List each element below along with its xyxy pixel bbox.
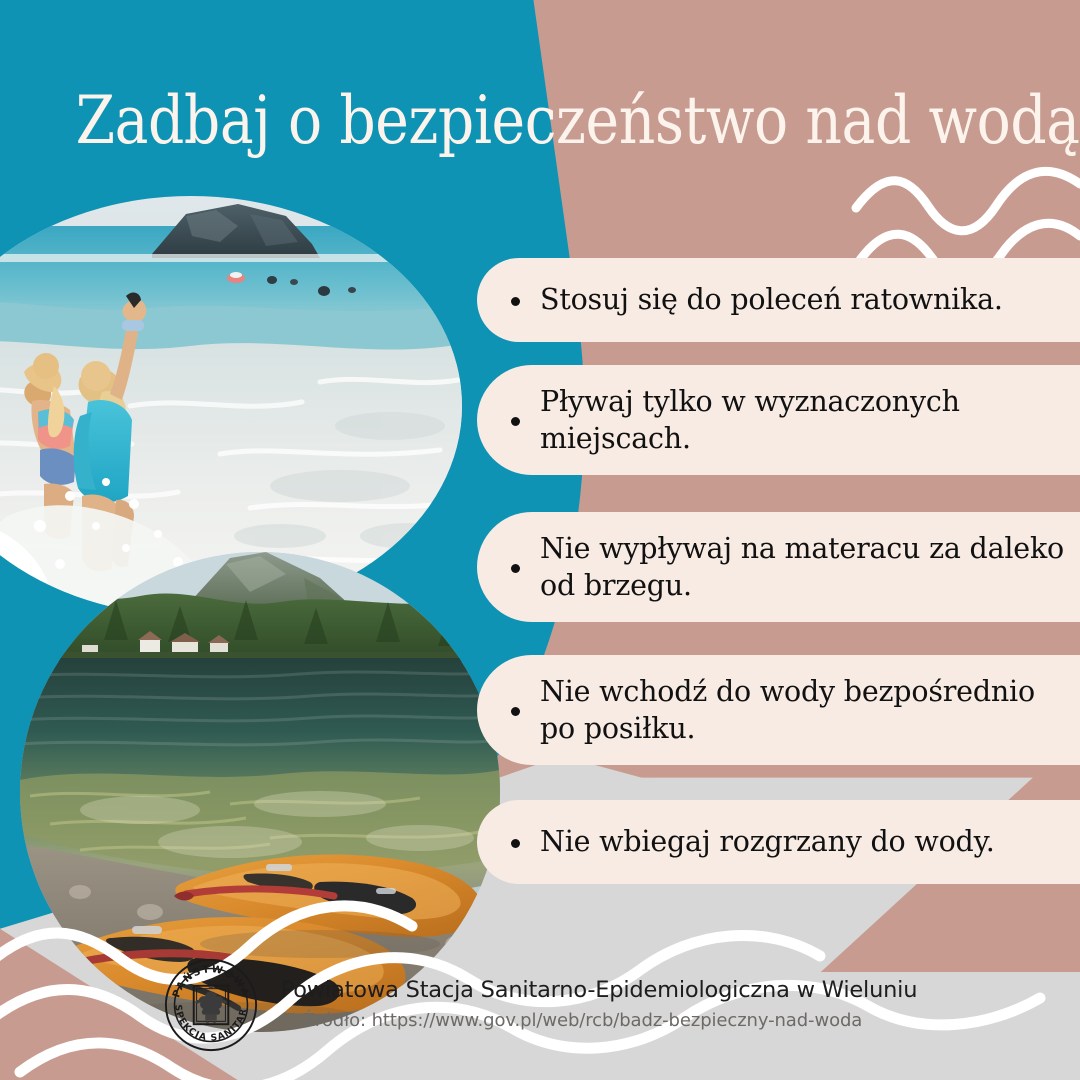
tip-text: Nie wypływaj na materacu za daleko od br… <box>540 530 1064 604</box>
bullet-icon <box>511 707 520 716</box>
tip-card-2[interactable]: Pływaj tylko w wyznaczonych miejscach. <box>477 365 1080 475</box>
poster-canvas: Zadbaj o bezpieczeństwo nad wodą! Stosuj… <box>0 0 1080 1080</box>
bullet-icon <box>511 417 520 426</box>
tip-text: Pływaj tylko w wyznaczonych miejscach. <box>540 383 1064 457</box>
tip-card-1[interactable]: Stosuj się do poleceń ratownika. <box>477 258 1080 342</box>
tip-card-4[interactable]: Nie wchodź do wody bezpośrednio po posił… <box>477 655 1080 765</box>
page-title: Zadbaj o bezpieczeństwo nad wodą! <box>76 86 1005 155</box>
bullet-icon <box>511 297 520 306</box>
source-url: Źródło: https://www.gov.pl/web/rcb/badz-… <box>303 1009 863 1033</box>
tip-text: Nie wbiegaj rozgrzany do wody. <box>540 823 995 860</box>
bullet-icon <box>511 564 520 573</box>
tip-card-5[interactable]: Nie wbiegaj rozgrzany do wody. <box>477 800 1080 884</box>
sanitary-inspection-seal-icon: PAŃSTWOWA INSPEKCJA SANITARNA <box>163 957 259 1053</box>
tip-text: Stosuj się do poleceń ratownika. <box>540 281 1003 318</box>
tip-text: Nie wchodź do wody bezpośrednio po posił… <box>540 673 1064 747</box>
footer: PAŃSTWOWA INSPEKCJA SANITARNA Powiatowa … <box>0 950 1080 1060</box>
footer-text-block: Powiatowa Stacja Sanitarno-Epidemiologic… <box>281 976 918 1033</box>
bullet-icon <box>511 839 520 848</box>
organization-name: Powiatowa Stacja Sanitarno-Epidemiologic… <box>281 976 918 1004</box>
tip-card-3[interactable]: Nie wypływaj na materacu za daleko od br… <box>477 512 1080 622</box>
